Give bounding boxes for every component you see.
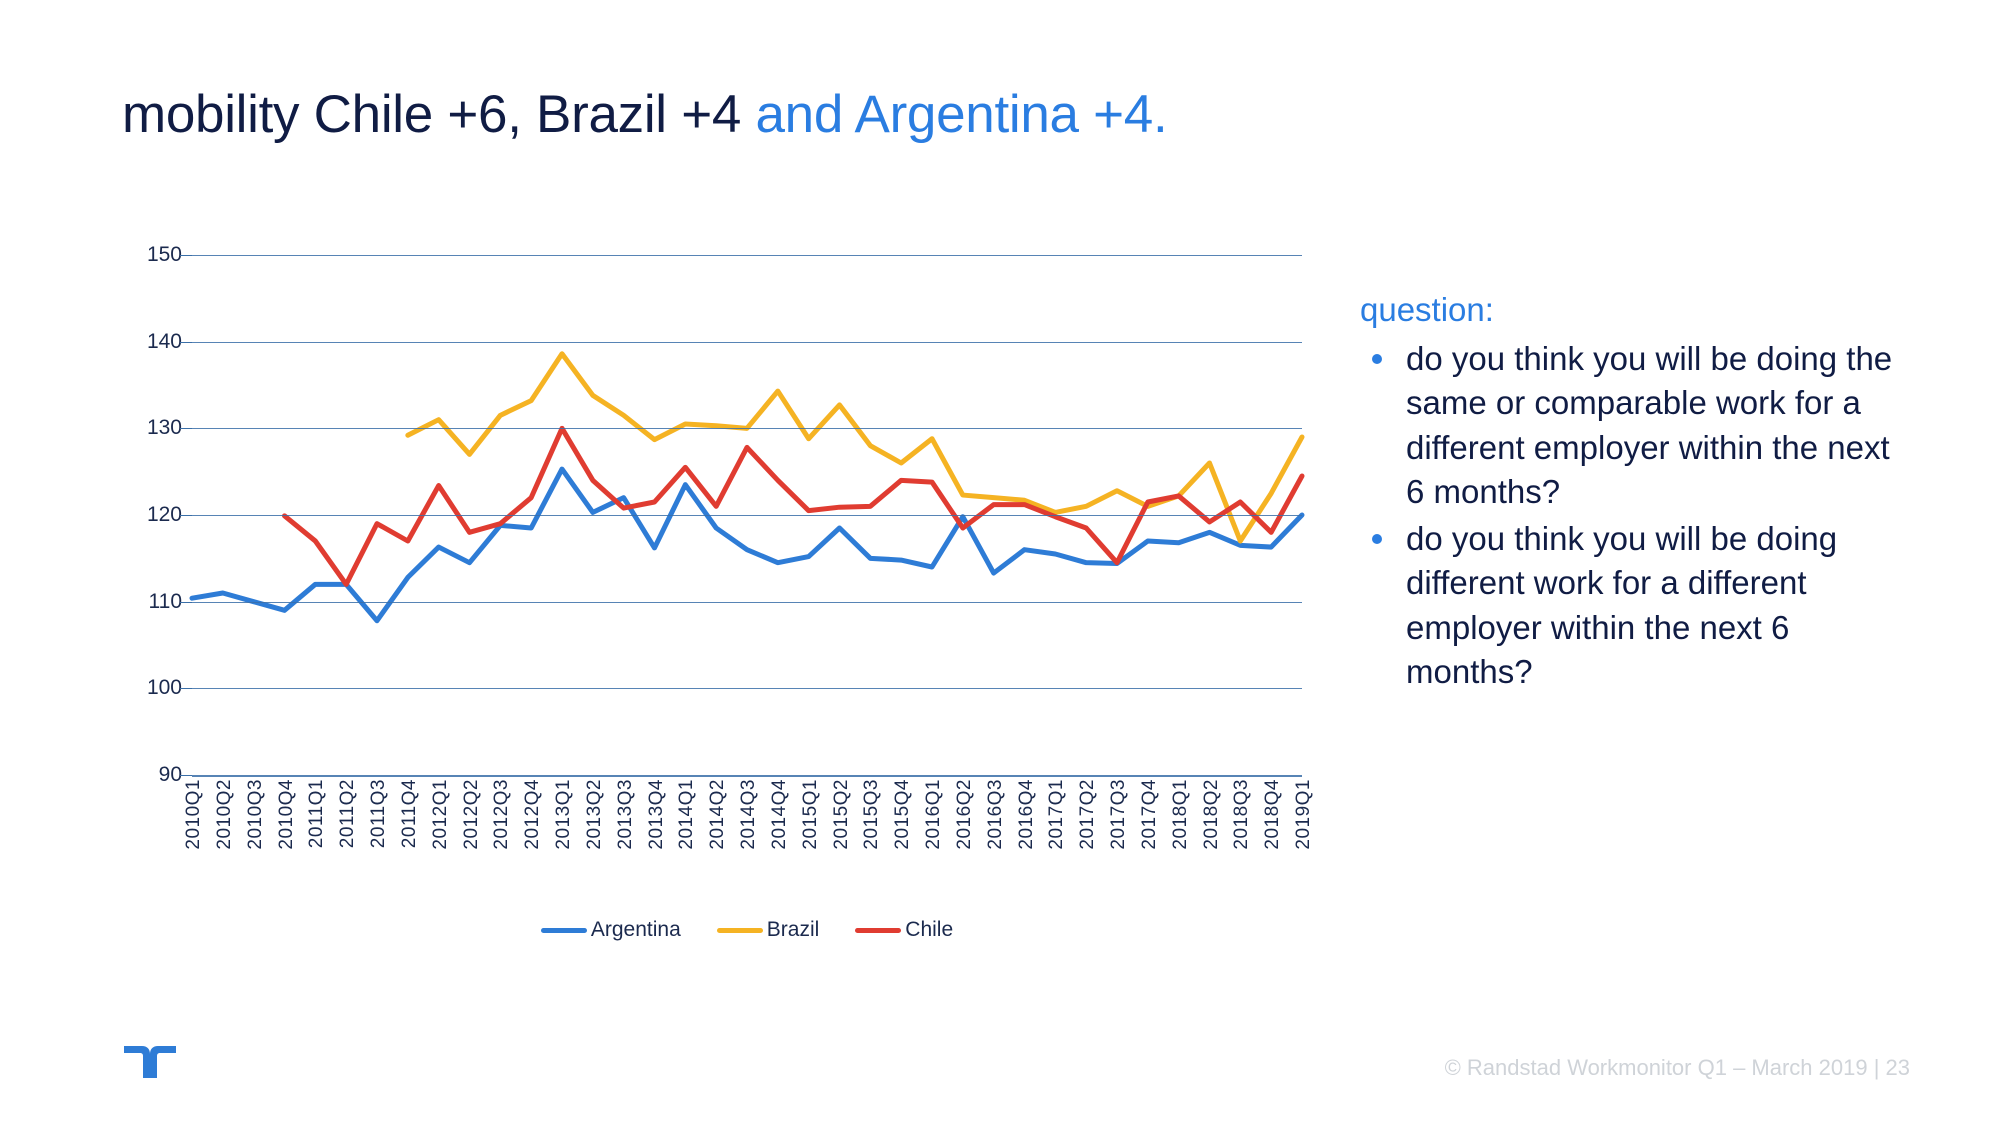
y-axis-tick-mark [180, 255, 192, 256]
legend-swatch-argentina [541, 928, 587, 933]
legend-swatch-brazil [717, 928, 763, 933]
x-axis-tick-label: 2016Q2 [954, 779, 976, 850]
legend-label: Brazil [767, 918, 820, 942]
x-axis-tick-label: 2010Q1 [183, 779, 205, 850]
x-axis-tick-label: 2011Q3 [368, 779, 390, 848]
series-line-brazil [408, 354, 1302, 541]
x-axis-tick-label: 2012Q3 [491, 779, 513, 850]
x-axis-tick-label: 2015Q2 [831, 779, 853, 850]
slide-root: mobility Chile +6, Brazil +4 and Argenti… [0, 0, 2000, 1125]
y-axis-tick-label: 110 [149, 590, 182, 614]
x-axis-tick-label: 2018Q1 [1170, 779, 1192, 850]
x-axis-tick-label: 2017Q4 [1139, 779, 1161, 850]
randstad-logo [122, 1040, 178, 1084]
chart-canvas [192, 255, 1302, 775]
question-bullet: do you think you will be doing different… [1360, 517, 1900, 695]
x-axis-labels: 2010Q12010Q22010Q32010Q42011Q12011Q22011… [192, 779, 1302, 909]
x-axis-tick-label: 2013Q4 [646, 779, 668, 850]
y-axis-tick-label: 90 [159, 763, 182, 787]
x-axis-tick-label: 2015Q4 [892, 779, 914, 850]
legend-swatch-chile [855, 928, 901, 933]
gridline [192, 602, 1302, 603]
question-bullet-text: do you think you will be doing the same … [1406, 340, 1892, 511]
question-bullet-text: do you think you will be doing different… [1406, 520, 1837, 691]
x-axis-tick-label: 2010Q3 [245, 779, 267, 850]
x-axis-tick-label: 2013Q2 [584, 779, 606, 850]
x-axis-tick-label: 2010Q2 [214, 779, 236, 850]
x-axis-tick-label: 2016Q1 [923, 779, 945, 850]
x-axis-tick-label: 2013Q3 [615, 779, 637, 850]
y-axis-tick-mark [180, 688, 192, 689]
x-axis-tick-label: 2012Q1 [430, 779, 452, 850]
x-axis-tick-label: 2018Q2 [1201, 779, 1223, 850]
x-axis-tick-label: 2018Q3 [1231, 779, 1253, 850]
y-axis-tick-mark [180, 775, 192, 776]
x-axis-tick-label: 2014Q3 [738, 779, 760, 850]
question-bullet-list: do you think you will be doing the same … [1360, 337, 1900, 695]
footer-note: © Randstad Workmonitor Q1 – March 2019 |… [1445, 1055, 1910, 1081]
legend-label: Argentina [591, 918, 681, 942]
x-axis-tick-label: 2015Q1 [800, 779, 822, 850]
title-accent-part: and Argentina +4. [755, 85, 1167, 144]
series-line-argentina [192, 469, 1302, 621]
legend-item-chile[interactable]: Chile [855, 918, 953, 942]
chart-plot-area: 90100110120130140150 [120, 255, 1310, 815]
x-axis-tick-label: 2017Q1 [1046, 779, 1068, 850]
y-axis-tick-mark [180, 342, 192, 343]
y-axis-tick-mark [180, 602, 192, 603]
x-axis-tick-label: 2014Q2 [707, 779, 729, 850]
x-axis-tick-label: 2012Q2 [461, 779, 483, 850]
x-axis-tick-label: 2010Q4 [276, 779, 298, 850]
bullet-dot-icon [1372, 354, 1382, 364]
y-axis-tick-label: 130 [147, 416, 182, 440]
x-axis-line [192, 775, 1302, 777]
x-axis-tick-label: 2016Q3 [985, 779, 1007, 850]
legend-item-argentina[interactable]: Argentina [541, 918, 681, 942]
x-axis-tick-label: 2017Q3 [1108, 779, 1130, 850]
x-axis-tick-label: 2011Q4 [399, 779, 421, 848]
x-axis-tick-label: 2015Q3 [861, 779, 883, 850]
y-axis-labels: 90100110120130140150 [120, 255, 182, 775]
x-axis-tick-label: 2014Q4 [769, 779, 791, 850]
y-axis-tick-label: 100 [147, 676, 182, 700]
y-axis-tick-label: 120 [147, 503, 182, 527]
question-heading: question: [1360, 288, 1900, 333]
y-axis-tick-label: 140 [147, 330, 182, 354]
gridline [192, 688, 1302, 689]
question-panel: question: do you think you will be doing… [1360, 288, 1900, 697]
x-axis-tick-label: 2011Q2 [337, 779, 359, 848]
y-axis-tick-mark [180, 515, 192, 516]
x-axis-tick-label: 2011Q1 [306, 779, 328, 848]
x-axis-tick-label: 2017Q2 [1077, 779, 1099, 850]
legend-label: Chile [905, 918, 953, 942]
bullet-dot-icon [1372, 534, 1382, 544]
x-axis-tick-label: 2014Q1 [676, 779, 698, 850]
gridline [192, 428, 1302, 429]
x-axis-tick-label: 2012Q4 [522, 779, 544, 850]
x-axis-tick-label: 2018Q4 [1262, 779, 1284, 850]
title-dark-part: mobility Chile +6, Brazil +4 [122, 85, 741, 144]
page-title: mobility Chile +6, Brazil +4 and Argenti… [122, 86, 1167, 144]
gridline [192, 342, 1302, 343]
gridline [192, 255, 1302, 256]
legend-item-brazil[interactable]: Brazil [717, 918, 820, 942]
x-axis-tick-label: 2019Q1 [1293, 779, 1315, 850]
line-chart: 90100110120130140150 2010Q12010Q22010Q32… [120, 255, 1310, 1015]
x-axis-tick-label: 2016Q4 [1016, 779, 1038, 850]
gridline [192, 515, 1302, 516]
y-axis-tick-label: 150 [147, 243, 182, 267]
chart-legend: ArgentinaBrazilChile [192, 913, 1302, 947]
x-axis-tick-label: 2013Q1 [553, 779, 575, 850]
question-bullet: do you think you will be doing the same … [1360, 337, 1900, 515]
y-axis-tick-mark [180, 428, 192, 429]
